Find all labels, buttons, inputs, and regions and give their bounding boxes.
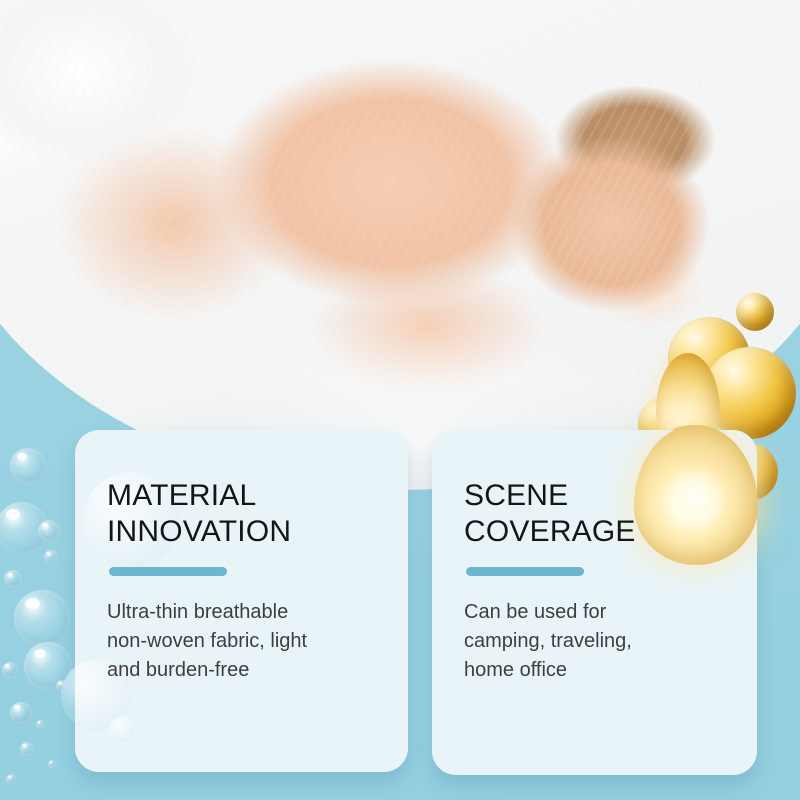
bubble [44,550,58,564]
bubble [48,760,56,768]
card-body-text: Ultra-thin breathable non-woven fabric, … [107,598,408,685]
bubble [4,570,22,588]
bubble [36,720,45,729]
card-title: SCENE COVERAGE [464,478,757,550]
bubble [20,742,34,756]
bubble [10,702,32,724]
card-accent-bar [109,567,227,576]
feature-card-scene-coverage[interactable]: SCENE COVERAGE Can be used for camping, … [432,430,757,775]
card-title: MATERIAL INNOVATION [107,478,408,550]
product-feature-banner: MATERIAL INNOVATION Ultra-thin breathabl… [0,0,800,800]
oil-droplet-small-top [736,293,774,331]
bubble [56,680,68,692]
bubble [38,520,60,542]
bubble [14,590,70,646]
card-body-text: Can be used for camping, traveling, home… [464,598,757,685]
feature-card-material-innovation[interactable]: MATERIAL INNOVATION Ultra-thin breathabl… [75,430,408,772]
card-watermark-bubble [109,716,135,742]
card-accent-bar [466,567,584,576]
bubble [2,662,18,678]
bubble [6,774,17,785]
